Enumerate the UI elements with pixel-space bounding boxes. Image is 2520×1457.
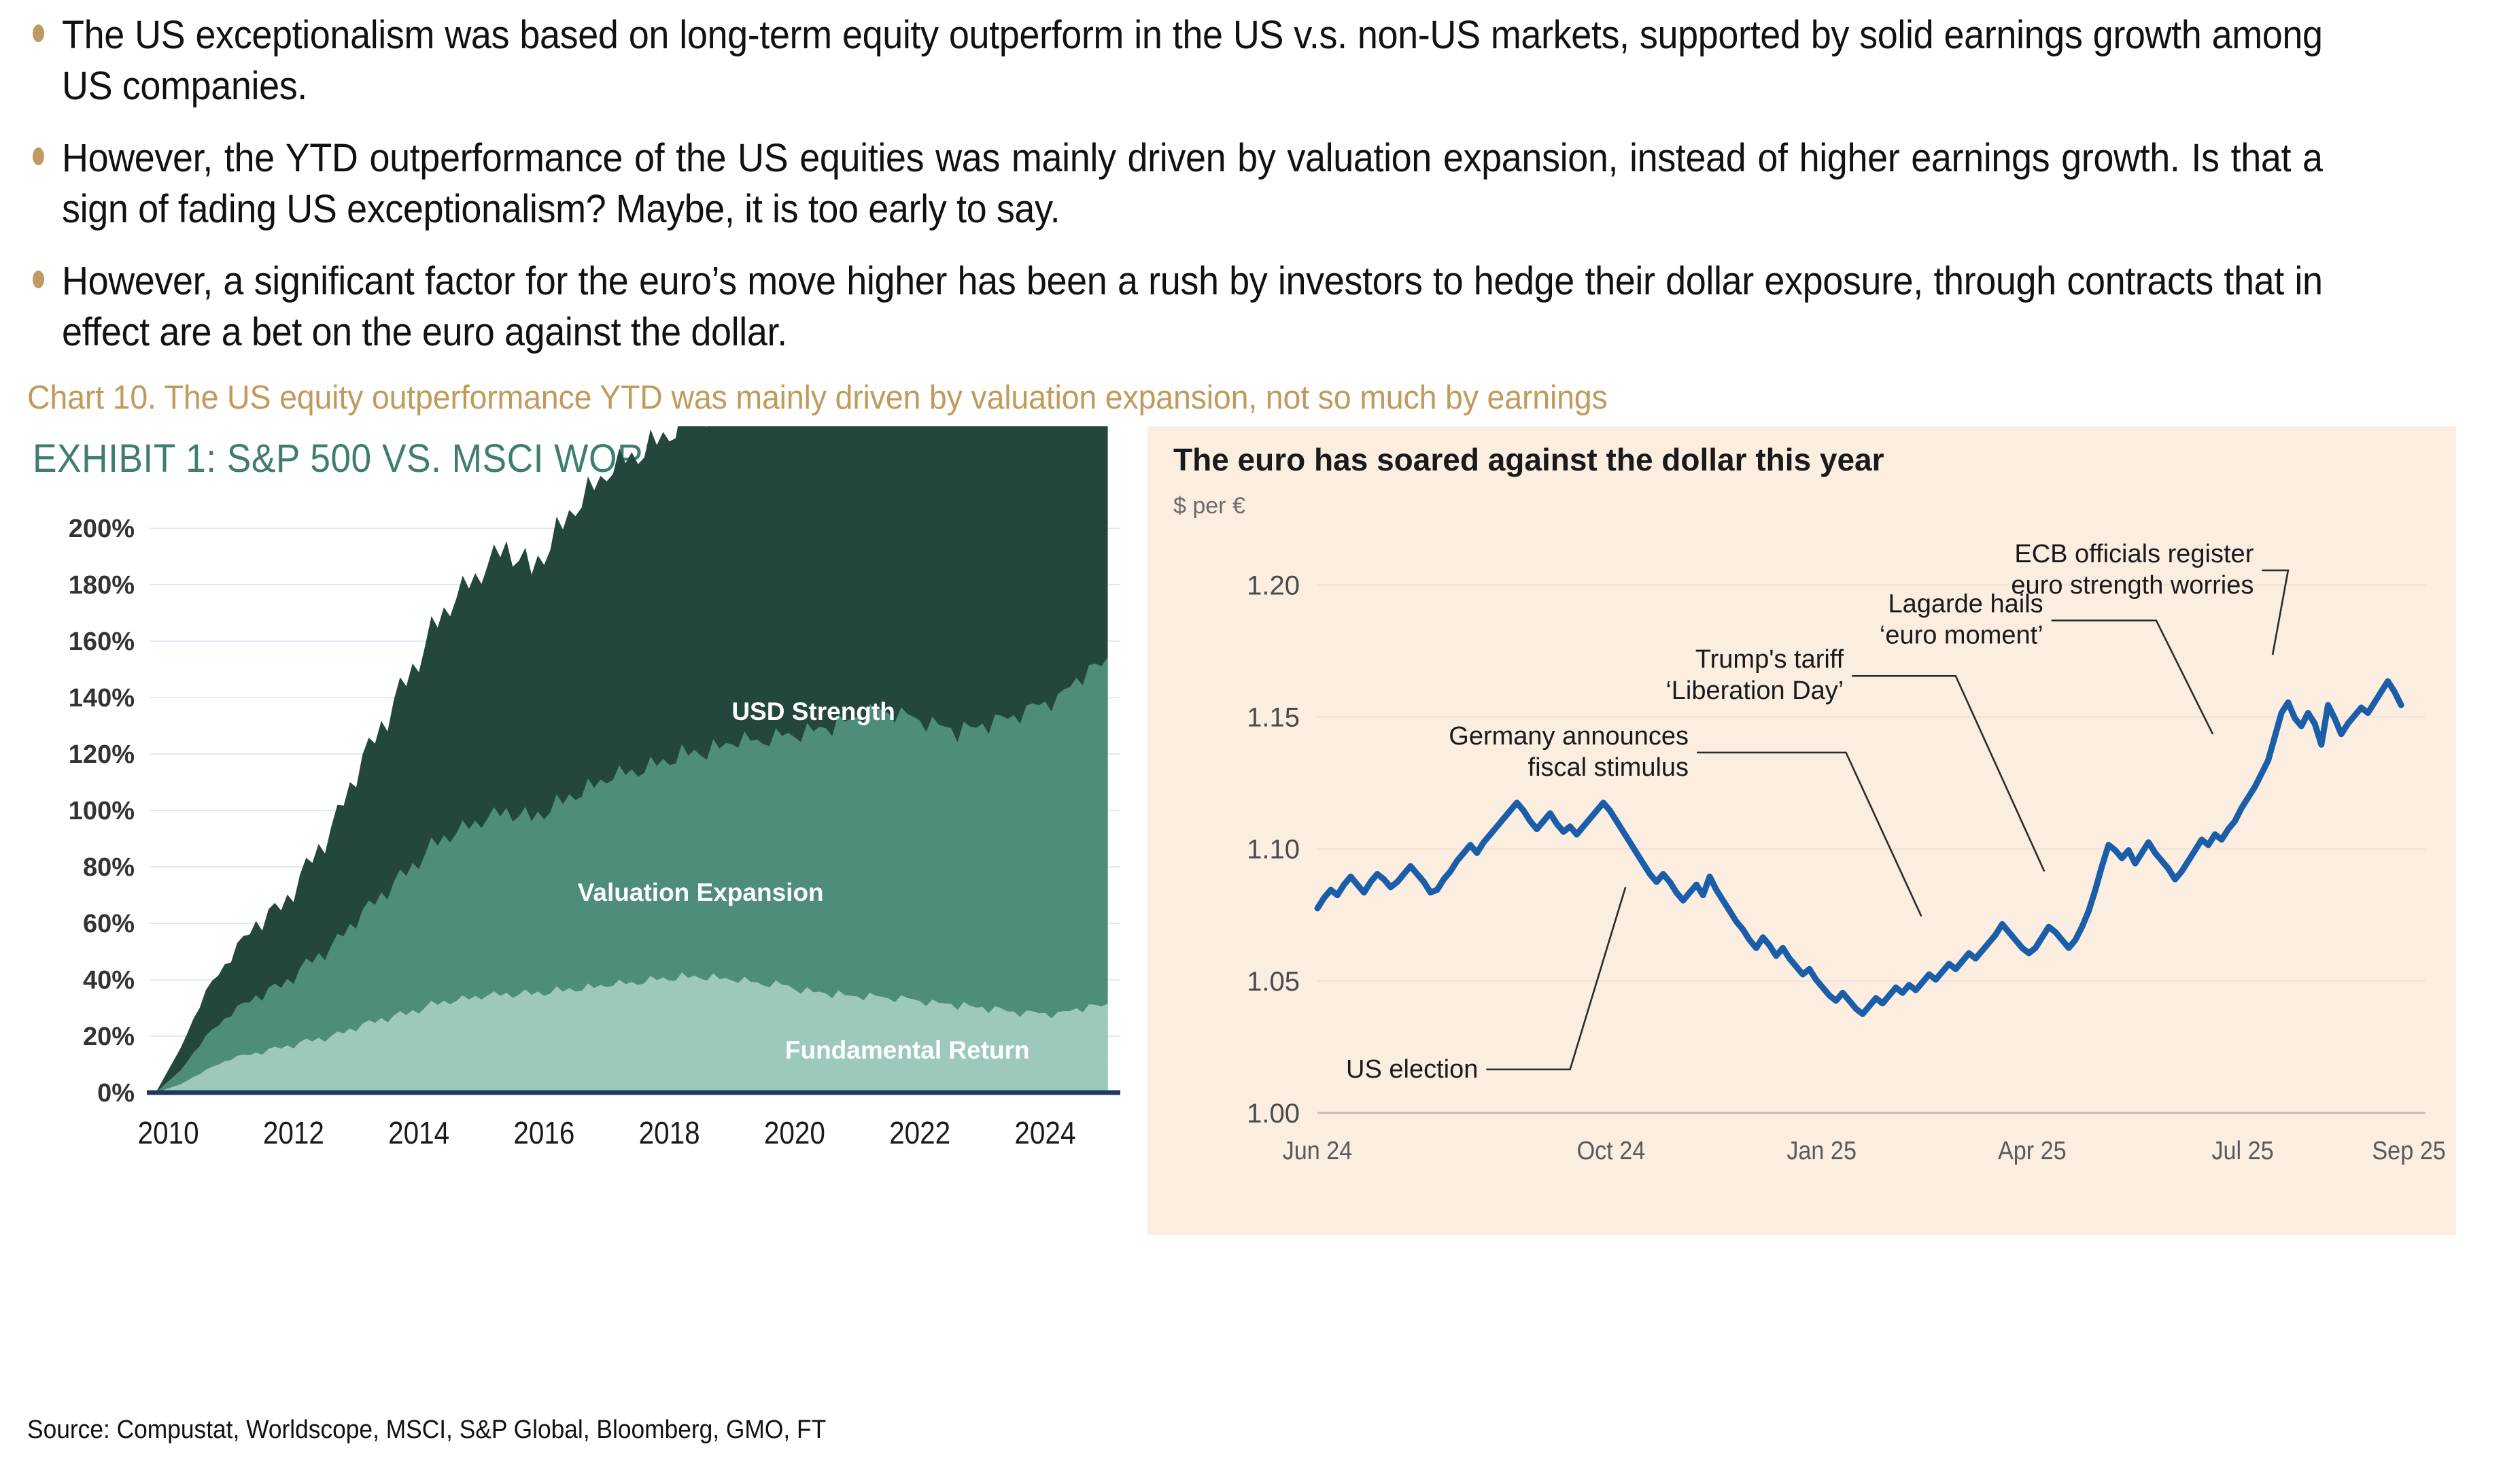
annotation-line: US election <box>1346 1055 1478 1084</box>
y-axis-tick-label: 200% <box>69 515 135 543</box>
x-axis-tick-label: 2018 <box>639 1116 700 1151</box>
y-axis-tick-label: 1.10 <box>1247 835 1300 865</box>
annotation-label: Trump's tariff‘Liberation Day’ <box>1665 645 1844 705</box>
x-axis-tick-label: Jan 25 <box>1787 1135 1857 1165</box>
x-axis-tick-label: Sep 25 <box>2372 1135 2445 1165</box>
annotation-line: Germany announces <box>1449 722 1689 751</box>
y-axis-tick-label: 1.00 <box>1247 1099 1300 1129</box>
bullet-item: However, a significant factor for the eu… <box>27 256 2493 358</box>
y-axis-tick-label: 160% <box>69 628 135 656</box>
annotation-line: euro strength worries <box>2011 571 2254 600</box>
annotation-line: ‘Liberation Day’ <box>1665 676 1844 705</box>
annotation-label: US election <box>1346 1055 1478 1084</box>
x-axis-tick-label: Jun 24 <box>1283 1135 1353 1165</box>
x-axis-tick-label: 2014 <box>388 1116 449 1151</box>
chart-caption: Chart 10. The US equity outperformance Y… <box>27 378 2396 418</box>
annotation-leader-line <box>1486 887 1625 1069</box>
annotation-leader-line <box>1852 676 2044 871</box>
bullet-item: The US exceptionalism was based on long-… <box>27 10 2493 112</box>
x-axis-tick-label: Oct 24 <box>1577 1135 1646 1165</box>
bullet-text: However, the YTD outperformance of the U… <box>62 133 2323 235</box>
charts-row: EXHIBIT 1: S&P 500 VS. MSCI WORLD EX-USA… <box>0 426 2520 1249</box>
euro-dollar-chart: 1.001.051.101.151.20Jun 24Oct 24Jan 25Ap… <box>1147 426 2456 1235</box>
bullet-dot-icon <box>33 24 44 42</box>
x-axis-tick-label: 2016 <box>513 1116 574 1151</box>
annotation-label: ECB officials registereuro strength worr… <box>2011 540 2254 600</box>
annotation-line: fiscal stimulus <box>1528 753 1689 782</box>
y-axis-tick-label: 180% <box>69 571 135 600</box>
series-label-2: USD Strength <box>731 698 895 725</box>
bullet-text: However, a significant factor for the eu… <box>62 256 2323 358</box>
x-axis-tick-label: 2012 <box>263 1116 324 1151</box>
x-axis-tick-label: Jul 25 <box>2211 1135 2273 1165</box>
exhibit-1-panel: EXHIBIT 1: S&P 500 VS. MSCI WORLD EX-USA… <box>20 426 1128 1235</box>
annotation-leader-line <box>2262 570 2288 655</box>
y-axis-tick-label: 20% <box>83 1023 135 1051</box>
x-axis-tick-label: 2022 <box>889 1116 950 1151</box>
euro-dollar-panel: The euro has soared against the dollar t… <box>1147 426 2456 1235</box>
y-axis-tick-label: 40% <box>83 966 135 995</box>
y-axis-tick-label: 100% <box>69 797 135 825</box>
annotation-line: ECB officials register <box>2014 540 2254 568</box>
annotation-line: ‘euro moment’ <box>1880 621 2043 650</box>
annotation-leader-line <box>1697 753 1921 916</box>
y-axis-tick-label: 0% <box>97 1079 135 1108</box>
y-axis-tick-label: 1.15 <box>1247 703 1300 733</box>
y-axis-tick-label: 1.20 <box>1247 570 1300 600</box>
series-label-1: Valuation Expansion <box>578 878 824 906</box>
x-axis-tick-label: 2010 <box>138 1116 199 1151</box>
y-axis-tick-label: 120% <box>69 740 135 769</box>
y-axis-tick-label: 1.05 <box>1247 967 1300 997</box>
annotation-label: Germany announcesfiscal stimulus <box>1449 722 1689 782</box>
bullet-dot-icon <box>33 271 44 288</box>
y-axis-tick-label: 80% <box>83 853 135 882</box>
series-label-0: Fundamental Return <box>785 1036 1030 1064</box>
bullet-text: The US exceptionalism was based on long-… <box>62 10 2323 112</box>
bullet-list: The US exceptionalism was based on long-… <box>0 0 2520 358</box>
annotation-line: Trump's tariff <box>1695 645 1844 674</box>
exhibit-1-chart: 0%20%40%60%80%100%120%140%160%180%200%20… <box>20 426 1128 1235</box>
x-axis-tick-label: 2024 <box>1014 1116 1075 1151</box>
x-axis-tick-label: Apr 25 <box>1998 1135 2067 1165</box>
y-axis-tick-label: 140% <box>69 684 135 713</box>
y-axis-tick-label: 60% <box>83 910 135 938</box>
source-line: Source: Compustat, Worldscope, MSCI, S&P… <box>27 1416 826 1445</box>
x-axis-tick-label: 2020 <box>764 1116 825 1151</box>
bullet-dot-icon <box>33 148 44 165</box>
bullet-item: However, the YTD outperformance of the U… <box>27 133 2493 235</box>
